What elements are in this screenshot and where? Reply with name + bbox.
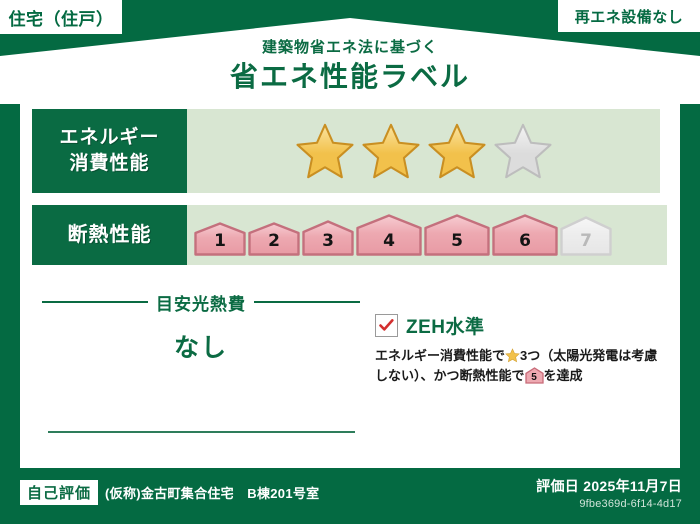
star-rating	[187, 109, 660, 193]
house-level-number: 3	[322, 231, 334, 256]
star-icon	[505, 348, 520, 363]
house-icon-level: 5	[525, 367, 544, 384]
zeh-checkbox[interactable]	[375, 314, 398, 337]
house-level-filled: 3	[302, 220, 354, 256]
house-level-empty: 7	[560, 216, 612, 256]
house-level-number: 1	[214, 231, 226, 256]
house-level-number: 6	[519, 231, 531, 256]
insulation-level-houses: 1234567	[194, 214, 612, 256]
footer-right: 評価日 2025年11月7日 9fbe369d-6f14-4d17	[536, 476, 682, 510]
footer: 自己評価 (仮称)金古町集合住宅 B棟201号室 評価日 2025年11月7日 …	[0, 468, 700, 524]
house-level-filled: 1	[194, 222, 246, 256]
row-energy-label-line2: 消費性能	[69, 151, 149, 177]
house-level-number: 7	[580, 231, 592, 256]
energy-performance-label: 建築物省エネ法に基づく 省エネ性能ラベル 住宅（住戸） 再エネ設備なし エネルギ…	[0, 0, 700, 524]
house-level-number: 4	[383, 231, 395, 256]
house-level-filled: 2	[248, 222, 300, 256]
zeh-desc-part2: 3つ（太陽光発電	[520, 348, 618, 363]
house-level-filled: 4	[356, 214, 422, 256]
row-energy-label-line1: エネルギー	[59, 125, 159, 151]
zeh-desc-part4: を達成	[544, 368, 583, 383]
house-level-number: 2	[268, 231, 280, 256]
building-name: (仮称)金古町集合住宅 B棟201号室	[105, 483, 319, 502]
row-energy-performance: エネルギー 消費性能	[32, 109, 660, 193]
star-icon-empty	[493, 122, 553, 180]
zeh-title: ZEH水準	[406, 312, 485, 339]
utility-cost-heading-text: 目安光熱費	[156, 290, 246, 315]
row-insulation-label-text: 断熱性能	[68, 222, 152, 249]
page-title: 省エネ性能ラベル	[0, 59, 700, 94]
insulation-scale-panel: 1234567	[187, 205, 667, 265]
zeh-block: ZEH水準 エネルギー消費性能で3つ（太陽光発電は考慮しない）、かつ断熱性能で5…	[375, 312, 665, 386]
star-icon-filled	[427, 122, 487, 180]
cost-rule-right	[254, 301, 360, 303]
badge-housing-type: 住宅（住戸）	[0, 0, 122, 34]
zeh-heading: ZEH水準	[375, 312, 665, 339]
row-energy-label: エネルギー 消費性能	[32, 109, 187, 193]
row-insulation-label: 断熱性能	[32, 205, 187, 265]
utility-cost-value: なし	[42, 328, 360, 364]
badge-renewable-equipment: 再エネ設備なし	[558, 0, 700, 32]
self-evaluation-badge: 自己評価	[20, 480, 98, 505]
house-level-filled: 5	[424, 214, 490, 256]
evaluation-date: 評価日 2025年11月7日	[536, 476, 682, 496]
footer-left: 自己評価 (仮称)金古町集合住宅 B棟201号室	[20, 480, 319, 505]
zeh-desc-part1: エネルギー消費性能で	[375, 348, 505, 363]
cost-bottom-divider	[48, 431, 355, 433]
title-block: 建築物省エネ法に基づく 省エネ性能ラベル	[0, 40, 700, 94]
star-icon-filled	[361, 122, 421, 180]
house-level-filled: 6	[492, 214, 558, 256]
evaluation-id: 9fbe369d-6f14-4d17	[536, 498, 682, 510]
zeh-description: エネルギー消費性能で3つ（太陽光発電は考慮しない）、かつ断熱性能で5を達成	[375, 346, 665, 386]
title-subtitle: 建築物省エネ法に基づく	[0, 40, 700, 57]
house-level-number: 5	[451, 231, 463, 256]
utility-cost-heading: 目安光熱費	[42, 294, 360, 310]
house-icon-level-number: 5	[525, 367, 544, 384]
row-insulation-performance: 断熱性能 1234567	[32, 205, 667, 265]
star-icon-filled	[295, 122, 355, 180]
cost-rule-left	[42, 301, 148, 303]
label-card: エネルギー 消費性能 断熱性能 1234567 目安光熱費 なし	[20, 100, 680, 468]
